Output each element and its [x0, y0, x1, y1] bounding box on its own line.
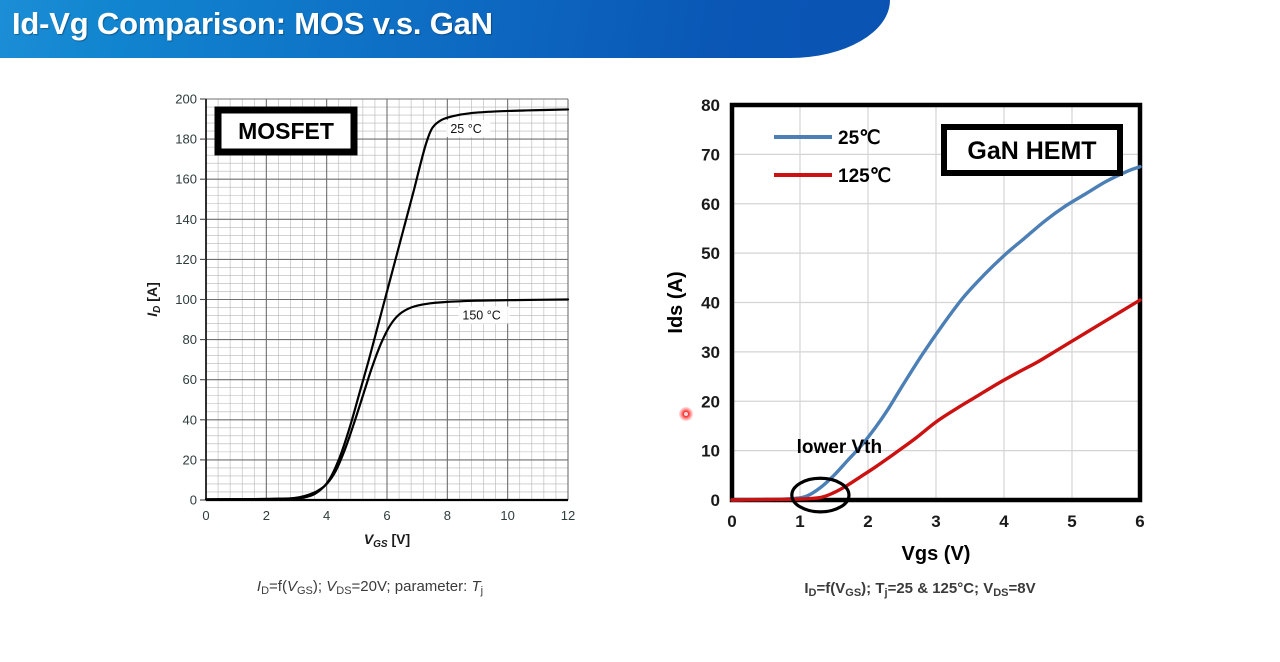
- x-tick-label: 3: [931, 512, 940, 531]
- y-tick-label: 30: [701, 343, 720, 362]
- caption-eq3: =20V; parameter:: [352, 578, 472, 595]
- caption-eq2: );: [861, 580, 875, 597]
- y-tick-label: 20: [701, 392, 720, 411]
- y-tick-label: 100: [175, 292, 197, 307]
- caption-sub-gs: GS: [297, 585, 313, 597]
- y-tick-label: 180: [175, 132, 197, 147]
- page-title: Id-Vg Comparison: MOS v.s. GaN: [12, 6, 493, 42]
- caption-symbol-v: V: [287, 578, 297, 595]
- y-tick-label: 0: [190, 493, 197, 508]
- y-tick-label: 20: [183, 452, 197, 467]
- x-axis-title: VGS [V]: [364, 531, 410, 550]
- x-tick-label: 8: [444, 508, 451, 523]
- gan-hemt-badge: GaN HEMT: [944, 127, 1120, 173]
- caption-symbol-v2: V: [983, 580, 993, 597]
- x-tick-label: 12: [561, 508, 575, 523]
- caption-eq4: =8V: [1009, 580, 1036, 597]
- x-tick-label: 0: [727, 512, 736, 531]
- x-tick-label: 2: [263, 508, 270, 523]
- y-tick-label: 60: [701, 195, 720, 214]
- caption-symbol-t: T: [875, 580, 884, 597]
- y-tick-label: 50: [701, 244, 720, 263]
- x-axis-title: Vgs (V): [902, 543, 971, 565]
- y-axis-title: ID [A]: [144, 282, 163, 316]
- x-tick-label: 1: [795, 512, 804, 531]
- legend-label-1: 25℃: [838, 128, 880, 149]
- y-tick-label: 80: [701, 96, 720, 115]
- y-axis-title: Ids (A): [665, 271, 687, 333]
- caption-symbol-v: V: [835, 580, 845, 597]
- caption-eq3: =25 & 125°C;: [888, 580, 984, 597]
- caption-sub-d: D: [809, 587, 817, 599]
- y-tick-label: 60: [183, 372, 197, 387]
- curve-annotation-1: 25 °C: [450, 122, 481, 136]
- caption-sub-ds: DS: [993, 587, 1008, 599]
- caption-sub-j: j: [885, 587, 888, 599]
- curve-annotation-2: 150 °C: [462, 309, 500, 323]
- y-tick-label: 80: [183, 332, 197, 347]
- badge-label: GaN HEMT: [967, 137, 1096, 165]
- mosfet-chart-panel: 020406080100120140160180200024681012VGS …: [140, 80, 600, 620]
- caption-sub-d: D: [261, 585, 269, 597]
- legend-label-2: 125℃: [838, 166, 891, 187]
- x-tick-label: 5: [1067, 512, 1076, 531]
- gan-plot-area: 010203040506070800123456Vgs (V)Ids (A)25…: [665, 96, 1145, 565]
- y-tick-label: 10: [701, 442, 720, 461]
- caption-eq1: =f(: [269, 578, 287, 595]
- x-tick-label: 0: [202, 508, 209, 523]
- x-tick-label: 2: [863, 512, 872, 531]
- gan-hemt-chart: 010203040506070800123456Vgs (V)Ids (A)25…: [660, 80, 1180, 580]
- mosfet-plot-area: 020406080100120140160180200024681012VGS …: [144, 92, 575, 551]
- x-tick-label: 4: [323, 508, 330, 523]
- caption-eq1: =f(: [817, 580, 836, 597]
- y-tick-label: 40: [701, 294, 720, 313]
- laser-pointer-dot: [679, 407, 693, 421]
- mosfet-chart-caption: ID=f(VGS); VDS=20V; parameter: Tj: [140, 578, 600, 595]
- y-tick-label: 200: [175, 92, 197, 107]
- mosfet-badge: MOSFET: [218, 110, 354, 152]
- y-tick-label: 70: [701, 145, 720, 164]
- x-tick-label: 4: [999, 512, 1009, 531]
- caption-eq2: );: [313, 578, 326, 595]
- caption-sub-ds: DS: [336, 585, 351, 597]
- gan-hemt-chart-caption: ID=f(VGS); Tj=25 & 125°C; VDS=8V: [660, 580, 1180, 597]
- x-tick-label: 6: [383, 508, 390, 523]
- x-tick-label: 10: [500, 508, 514, 523]
- caption-sub-j: j: [481, 585, 483, 597]
- y-tick-label: 40: [183, 412, 197, 427]
- y-tick-label: 140: [175, 212, 197, 227]
- caption-sub-gs: GS: [845, 587, 861, 599]
- caption-symbol-id: I: [804, 580, 808, 597]
- x-tick-label: 6: [1135, 512, 1144, 531]
- vth-annotation: lower Vth: [797, 437, 883, 458]
- caption-symbol-v2: V: [326, 578, 336, 595]
- slide-title-banner: Id-Vg Comparison: MOS v.s. GaN: [0, 0, 890, 58]
- y-tick-label: 160: [175, 172, 197, 187]
- caption-symbol-t: T: [471, 578, 480, 595]
- y-tick-label: 0: [711, 491, 720, 510]
- badge-label: MOSFET: [238, 118, 334, 144]
- y-tick-label: 120: [175, 252, 197, 267]
- mosfet-chart: 020406080100120140160180200024681012VGS …: [140, 80, 600, 580]
- gan-hemt-chart-panel: 010203040506070800123456Vgs (V)Ids (A)25…: [660, 80, 1180, 620]
